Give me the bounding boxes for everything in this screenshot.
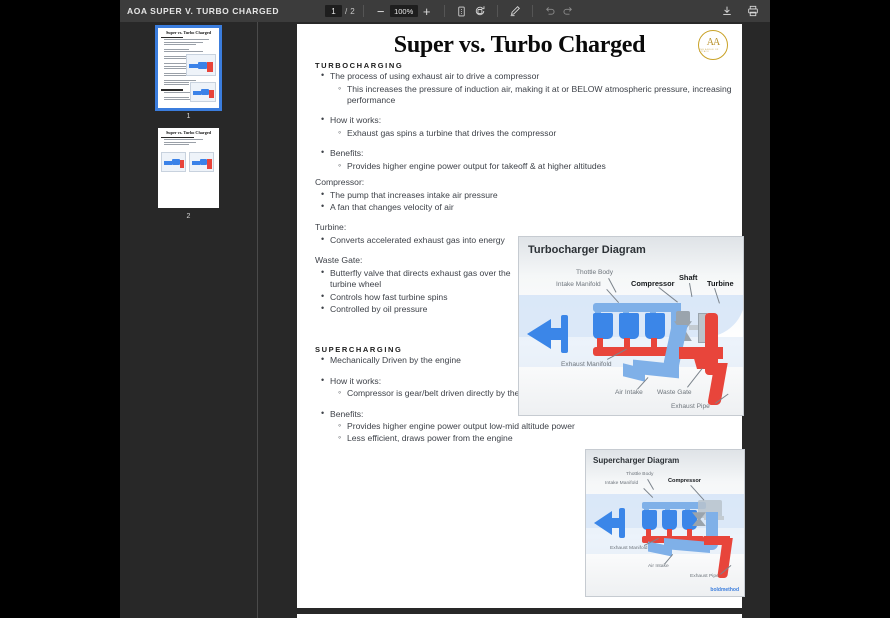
annotate-button[interactable]: [506, 3, 524, 19]
rotate-button[interactable]: [471, 3, 489, 19]
mini-diagram-left: [161, 152, 186, 172]
thumbnail-2-number: 2: [187, 213, 191, 220]
bullet-subitem: This increases the pressure of induction…: [338, 84, 732, 107]
redo-icon: [562, 5, 574, 17]
document-page-2: [297, 614, 742, 618]
fit-page-button[interactable]: [453, 3, 471, 19]
turbo-diagram-graphic: Thottle Body Intake Manifold Compressor …: [519, 237, 743, 415]
thumbnail-item-2[interactable]: Super vs. Turbo Charged: [158, 128, 219, 226]
document-title: AOA SUPER V. TURBO CHARGED: [127, 6, 279, 16]
page-scroll-area[interactable]: AA THE ANGLE OF ATTACK Super vs. Turbo C…: [259, 22, 770, 618]
mini-line: [164, 80, 196, 81]
mini-line: [164, 84, 189, 85]
label-exhaust-manifold: Exhaust Manifold: [610, 546, 648, 551]
page-total: 2: [350, 7, 354, 16]
undo-icon: [544, 5, 556, 17]
definition-term: Waste Gate:: [315, 255, 522, 266]
bullet-item: Benefits:: [321, 148, 732, 159]
rotate-icon: [474, 5, 486, 17]
label-air-intake: Air Intake: [648, 564, 669, 569]
mini-turbo-diagram: [186, 54, 216, 76]
mini-line: [164, 44, 196, 45]
bullet-sublist: Exhaust gas spins a turbine that drives …: [338, 128, 732, 139]
label-exhaust-pipe: Exhaust Pipe: [671, 403, 710, 410]
bullet-group-1: The process of using exhaust air to driv…: [321, 71, 732, 106]
bullet-item: Controlled by oil pressure: [321, 304, 522, 315]
definition-bullets: Butterfly valve that directs exhaust gas…: [321, 268, 522, 316]
bullet-item: The process of using exhaust air to driv…: [321, 71, 732, 82]
download-icon: [721, 5, 733, 17]
logo-subtext: THE ANGLE OF ATTACK: [699, 49, 727, 53]
turbocharger-diagram: Turbocharger Diagram: [518, 236, 744, 416]
label-shaft: Shaft: [679, 273, 697, 282]
undo-button[interactable]: [541, 3, 559, 19]
definitions-column: Compressor: The pump that increases inta…: [307, 177, 522, 315]
mini-line: [164, 97, 189, 98]
bullet-subitem: Provides higher engine power output for …: [338, 161, 732, 172]
bullet-subitem: Exhaust gas spins a turbine that drives …: [338, 128, 732, 139]
download-button[interactable]: [718, 3, 736, 19]
bullet-item: How it works:: [321, 115, 732, 126]
mini-line: [164, 42, 203, 43]
thumbnail-item-1[interactable]: Super vs. Turbo Charged: [158, 28, 219, 126]
print-button[interactable]: [744, 3, 762, 19]
viewer-toolbar: AOA SUPER V. TURBO CHARGED 1 / 2 − 100% …: [120, 0, 770, 22]
supercharger-diagram: Supercharger Diagram: [585, 449, 745, 597]
label-waste-gate: Waste Gate: [657, 389, 692, 396]
bullet-subitem: Provides higher engine power output low-…: [338, 421, 575, 432]
label-turbine: Turbine: [707, 279, 734, 288]
bullet-item: Converts accelerated exhaust gas into en…: [321, 235, 522, 246]
brand-logo: AA THE ANGLE OF ATTACK: [698, 30, 728, 60]
viewer-body: Super vs. Turbo Charged: [120, 22, 770, 618]
mini-head: [161, 37, 183, 38]
section-heading-turbocharging: TURBOCHARGING: [315, 61, 732, 70]
page-content: TURBOCHARGING The process of using exhau…: [297, 61, 742, 445]
mini-line: [164, 144, 189, 145]
bullet-sublist: Provides higher engine power output for …: [338, 161, 732, 172]
label-intake-manifold: Intake Manifold: [556, 281, 601, 288]
mini-line: [164, 139, 203, 140]
mini-line: [164, 39, 209, 40]
thumbnail-2-preview: Super vs. Turbo Charged: [158, 128, 219, 208]
bullet-subitem: Less efficient, draws power from the eng…: [338, 433, 575, 444]
definition-term: Turbine:: [315, 222, 522, 233]
annotate-pen-icon: [509, 5, 521, 17]
zoom-in-label: +: [423, 5, 431, 18]
label-exhaust-pipe: Exhaust Pipe: [690, 574, 719, 579]
mini-line: [164, 142, 196, 143]
mini-line: [164, 82, 189, 83]
mini-super-diagram: [190, 82, 216, 102]
mini-head: [161, 137, 194, 138]
mini-diagram-right: [189, 152, 214, 172]
thumbnail-sidebar[interactable]: Super vs. Turbo Charged: [120, 22, 258, 618]
zoom-in-button[interactable]: +: [418, 3, 436, 19]
thumbnail-page-1[interactable]: Super vs. Turbo Charged: [158, 28, 219, 108]
bullet-item: Butterfly valve that directs exhaust gas…: [321, 268, 522, 291]
bullet-sublist: Provides higher engine power output low-…: [338, 421, 575, 445]
bullet-item: A fan that changes velocity of air: [321, 202, 522, 213]
bullet-sublist: This increases the pressure of induction…: [338, 84, 732, 107]
toolbar-right-group: [718, 0, 762, 22]
bullet-group-3: Benefits: Provides higher engine power o…: [321, 148, 732, 172]
definition-bullets: The pump that increases intake air press…: [321, 190, 522, 214]
logo-monogram: AA: [707, 38, 719, 48]
page-separator: /: [345, 7, 347, 16]
pdf-viewer-window: AOA SUPER V. TURBO CHARGED 1 / 2 − 100% …: [120, 0, 770, 618]
zoom-out-button[interactable]: −: [372, 3, 390, 19]
super-diagram-graphic: Thottle Body Intake Manifold Compressor …: [586, 450, 744, 596]
thumbnail-2-title: Super vs. Turbo Charged: [161, 131, 216, 135]
thumbnail-page-2[interactable]: Super vs. Turbo Charged: [158, 128, 219, 208]
zoom-out-label: −: [377, 5, 385, 18]
bullet-item: Controls how fast turbine spins: [321, 292, 522, 303]
definition-bullets: Converts accelerated exhaust gas into en…: [321, 235, 522, 246]
toolbar-divider-1: [363, 5, 364, 17]
mini-line: [164, 51, 203, 52]
redo-button[interactable]: [559, 3, 577, 19]
label-exhaust-manifold: Exhaust Manifold: [561, 361, 612, 368]
toolbar-divider-2: [444, 5, 445, 17]
thumbnail-1-number: 1: [187, 113, 191, 120]
label-compressor: Compressor: [631, 279, 675, 288]
mini-line: [164, 49, 189, 50]
page-title: Super vs. Turbo Charged: [297, 24, 742, 58]
label-intake-manifold: Intake Manifold: [605, 481, 638, 486]
propeller-icon: [592, 506, 630, 545]
toolbar-divider-3: [497, 5, 498, 17]
document-page-1: AA THE ANGLE OF ATTACK Super vs. Turbo C…: [297, 24, 742, 608]
mini-head: [161, 89, 183, 90]
label-compressor: Compressor: [668, 478, 701, 484]
label-air-intake: Air Intake: [615, 389, 643, 396]
zoom-level-value[interactable]: 100%: [390, 5, 418, 17]
thumbnail-1-title: Super vs. Turbo Charged: [161, 31, 216, 35]
bullet-group-2: How it works: Exhaust gas spins a turbin…: [321, 115, 732, 139]
bullet-item: The pump that increases intake air press…: [321, 190, 522, 201]
label-throttle-body: Thottle Body: [576, 269, 613, 276]
propeller-icon: [525, 313, 573, 360]
thumbnail-1-preview: Super vs. Turbo Charged: [158, 28, 219, 108]
toolbar-center-group: 1 / 2 − 100% +: [325, 0, 577, 22]
definition-term: Compressor:: [315, 177, 522, 188]
page-number-input[interactable]: 1: [325, 5, 342, 17]
diagram-watermark: boldmethod: [710, 587, 739, 593]
print-icon: [747, 5, 759, 17]
toolbar-divider-4: [532, 5, 533, 17]
label-throttle-body: Thottle Body: [626, 472, 653, 477]
fit-page-icon: [456, 6, 467, 17]
